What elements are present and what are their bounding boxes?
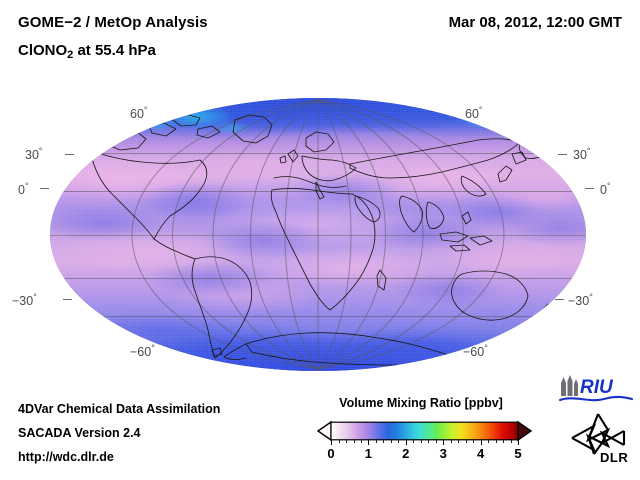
- colorbar-under-arrow: [318, 422, 331, 440]
- cb-tick-minor: [496, 440, 497, 443]
- colorbar-over-arrow: [518, 422, 531, 440]
- cb-tick-minor: [391, 440, 392, 443]
- cb-tick-minor: [354, 440, 355, 443]
- cb-label-0: 0: [327, 446, 334, 461]
- map-panel: 0° 30° 60° −30° −60° 0° 30° 60° −30° −60…: [0, 80, 640, 385]
- cb-tick-4: [481, 440, 482, 445]
- cb-label-5: 5: [514, 446, 521, 461]
- cb-tick-minor: [428, 440, 429, 443]
- species-name: ClONO: [18, 42, 67, 59]
- cb-tick-minor: [413, 440, 414, 443]
- colorbar-title: Volume Mixing Ratio [ppbv]: [305, 396, 537, 410]
- colorbar-gradient: [305, 420, 545, 442]
- dlr-bird-icon: [572, 414, 624, 454]
- footer-method: 4DVar Chemical Data Assimilation: [18, 402, 220, 416]
- species-subtitle: ClONO2 at 55.4 hPa: [18, 42, 156, 61]
- cb-tick-minor: [466, 440, 467, 443]
- riu-tower-icon: [561, 375, 578, 396]
- page-title: GOME−2 / MetOp Analysis: [18, 14, 208, 31]
- riu-wordmark: RIU: [580, 377, 614, 398]
- cb-label-1: 1: [365, 446, 372, 461]
- timestamp: Mar 08, 2012, 12:00 GMT: [449, 14, 622, 31]
- cb-tick-minor: [383, 440, 384, 443]
- cb-tick-3: [443, 440, 444, 445]
- cb-tick-minor: [436, 440, 437, 443]
- colorbar: Volume Mixing Ratio [ppbv]: [305, 396, 545, 476]
- riu-logo: RIU: [556, 374, 634, 404]
- species-level: at 55.4 hPa: [73, 42, 156, 59]
- cb-tick-minor: [361, 440, 362, 443]
- cb-label-4: 4: [477, 446, 484, 461]
- footer-version: SACADA Version 2.4: [18, 426, 141, 440]
- cb-tick-minor: [458, 440, 459, 443]
- lat-tick-right-0: [585, 188, 594, 189]
- lat-label-left-0: 0°: [18, 181, 29, 197]
- figure-canvas: GOME−2 / MetOp Analysis ClONO2 at 55.4 h…: [0, 0, 640, 480]
- dlr-wordmark: DLR: [600, 450, 628, 465]
- cb-tick-1: [368, 440, 369, 445]
- cb-tick-minor: [503, 440, 504, 443]
- cb-tick-minor: [398, 440, 399, 443]
- cb-tick-minor: [473, 440, 474, 443]
- cb-tick-5: [518, 440, 519, 445]
- colorbar-bar: [331, 422, 518, 440]
- cb-tick-minor: [339, 440, 340, 443]
- lat-label-left-30: 30°: [25, 146, 43, 162]
- coastlines: [50, 98, 586, 371]
- lat-label-left-m30: −30°: [12, 292, 37, 308]
- mollweide-projection: [50, 98, 586, 371]
- cb-tick-minor: [488, 440, 489, 443]
- cb-label-2: 2: [402, 446, 409, 461]
- cb-tick-minor: [451, 440, 452, 443]
- colorbar-tick-labels: 0 1 2 3 4 5: [305, 446, 545, 466]
- cb-tick-minor: [346, 440, 347, 443]
- lat-tick-left-0: [40, 188, 49, 189]
- globe-container: [50, 98, 586, 371]
- cb-tick-minor: [421, 440, 422, 443]
- cb-tick-minor: [511, 440, 512, 443]
- footer-url[interactable]: http://wdc.dlr.de: [18, 450, 114, 464]
- cb-tick-0: [331, 440, 332, 445]
- cb-tick-minor: [376, 440, 377, 443]
- lat-label-right-0: 0°: [600, 181, 611, 197]
- cb-tick-2: [406, 440, 407, 445]
- cb-label-3: 3: [440, 446, 447, 461]
